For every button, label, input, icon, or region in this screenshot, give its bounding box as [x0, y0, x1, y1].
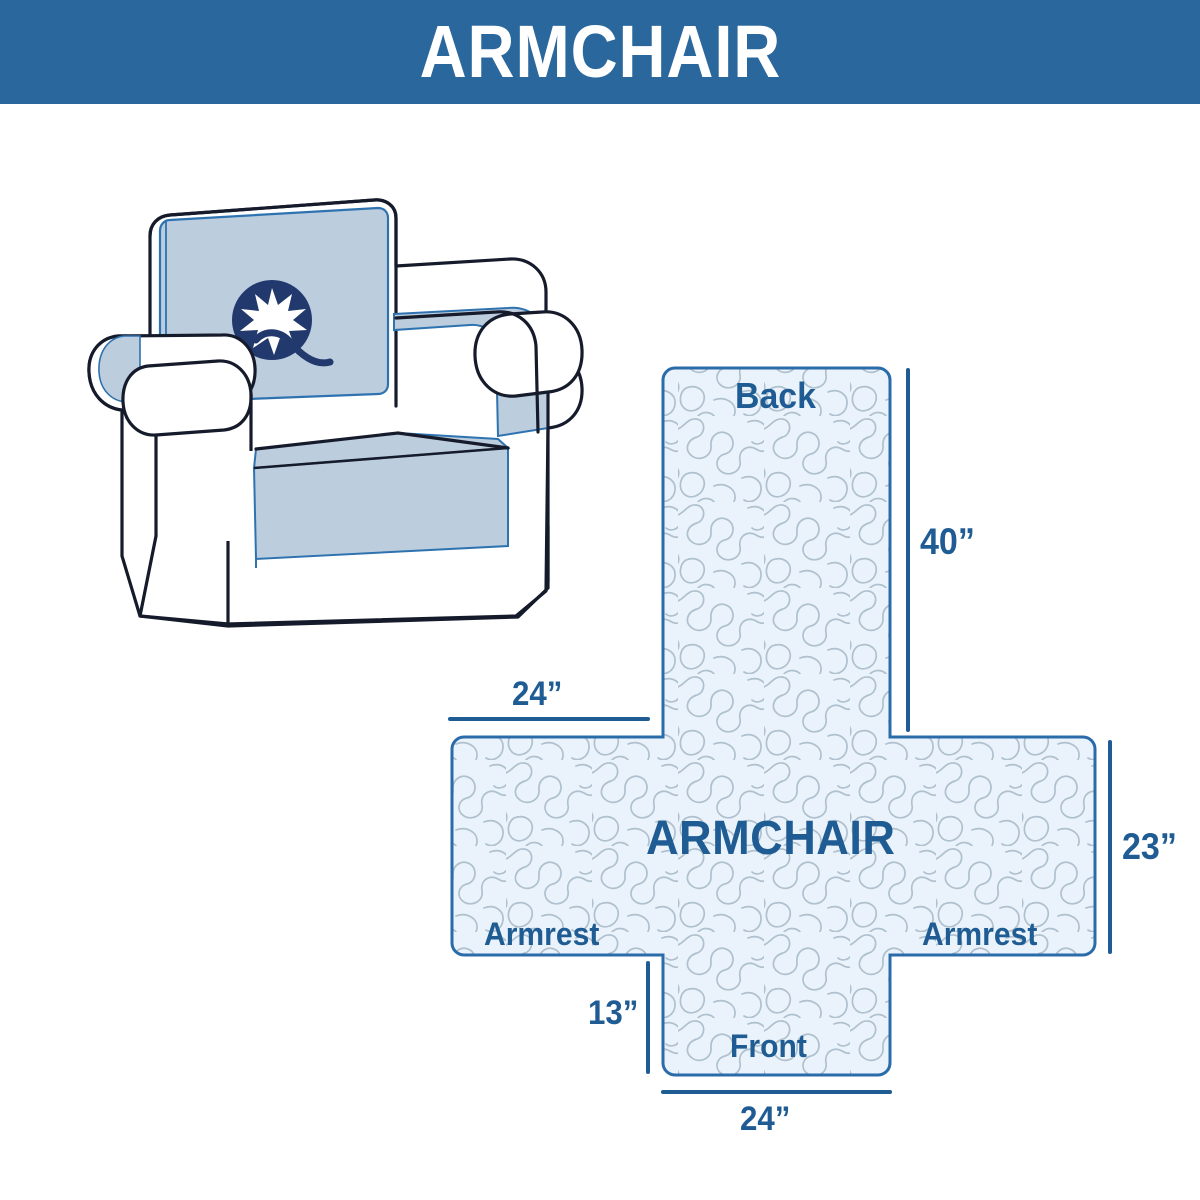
panel-label-front: Front — [730, 1030, 807, 1062]
slipcover-cross-shape — [452, 368, 1095, 1075]
dimension-value-back-height: 40” — [920, 523, 975, 560]
dimension-value-back-width: 24” — [512, 677, 562, 711]
panel-label-back: Back — [735, 378, 816, 414]
slipcover-dimension-diagram: Back ARMCHAIR Armrest Armrest Front 24” … — [420, 330, 1200, 1130]
panel-label-armrest-right: Armrest — [922, 918, 1037, 950]
diagram-center-label: ARMCHAIR — [646, 815, 895, 863]
panel-label-armrest-left: Armrest — [484, 918, 599, 950]
product-dimension-sheet: ARMCHAIR — [0, 0, 1200, 1200]
header-banner: ARMCHAIR — [0, 0, 1200, 104]
page-title: ARMCHAIR — [419, 15, 781, 89]
dimension-value-front-width: 24” — [740, 1102, 790, 1136]
dimension-value-front-height: 13” — [588, 996, 638, 1030]
dimension-value-armrest-height: 23” — [1122, 828, 1177, 865]
